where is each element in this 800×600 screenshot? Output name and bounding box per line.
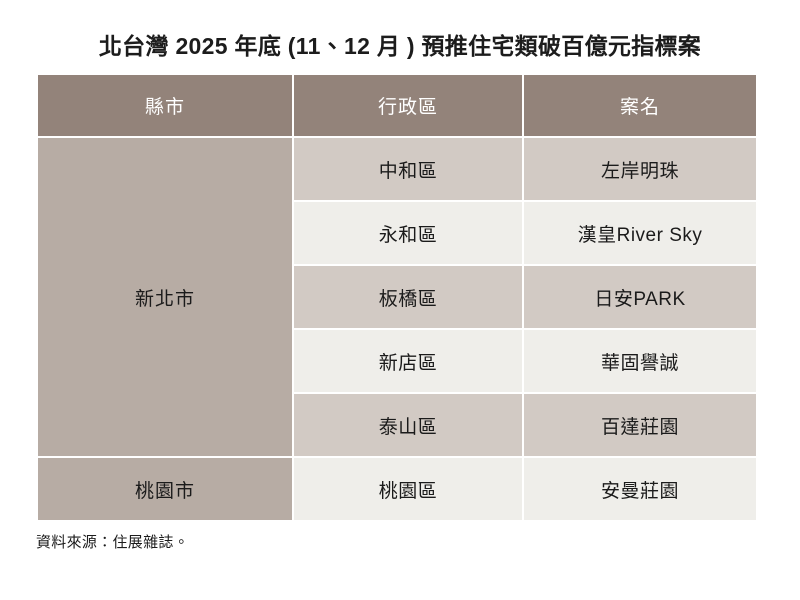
project-cell: 日安PARK [524,266,756,328]
district-cell: 桃園區 [294,458,522,520]
indicator-projects-table: 縣市 行政區 案名 新北市 中和區 左岸明珠 永和區 漢皇River Sky 板… [36,73,758,522]
column-header-city: 縣市 [38,75,292,136]
district-cell: 中和區 [294,138,522,200]
column-header-project: 案名 [524,75,756,136]
project-cell: 左岸明珠 [524,138,756,200]
table-container: 縣市 行政區 案名 新北市 中和區 左岸明珠 永和區 漢皇River Sky 板… [36,73,756,522]
table-header: 縣市 行政區 案名 [38,75,756,136]
district-cell: 永和區 [294,202,522,264]
project-cell: 百達莊園 [524,394,756,456]
table-header-row: 縣市 行政區 案名 [38,75,756,136]
district-cell: 泰山區 [294,394,522,456]
column-header-district: 行政區 [294,75,522,136]
project-cell: 安曼莊園 [524,458,756,520]
project-cell: 華固譽誠 [524,330,756,392]
city-cell-group-0: 新北市 [38,138,292,456]
table-row: 桃園市 桃園區 安曼莊園 [38,458,756,520]
page-title: 北台灣 2025 年底 (11、12 月 ) 預推住宅類破百億元指標案 [0,30,800,62]
district-cell: 板橋區 [294,266,522,328]
table-body: 新北市 中和區 左岸明珠 永和區 漢皇River Sky 板橋區 日安PARK … [38,138,756,520]
city-cell-group-1: 桃園市 [38,458,292,520]
infographic-table-page: 北台灣 2025 年底 (11、12 月 ) 預推住宅類破百億元指標案 縣市 行… [0,0,800,600]
source-note: 資料來源：住展雜誌。 [36,533,189,553]
district-cell: 新店區 [294,330,522,392]
project-cell: 漢皇River Sky [524,202,756,264]
table-row: 新北市 中和區 左岸明珠 [38,138,756,200]
